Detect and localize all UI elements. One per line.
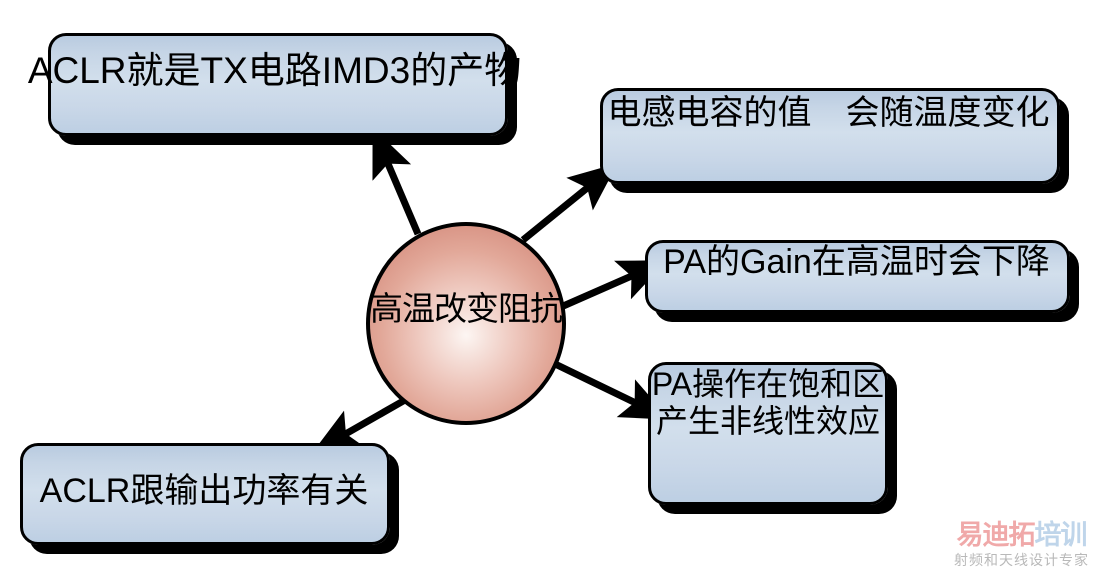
- arrow-center-to-lc-temp: [523, 180, 597, 240]
- watermark-brand-red: 易迪拓: [957, 520, 1035, 550]
- node-lc-temp[interactable]: 电感电容的值 会随温度变化: [600, 88, 1060, 184]
- arrow-center-to-aclr-imd3: [383, 152, 418, 234]
- node-pa-saturation[interactable]: PA操作在饱和区 产生非线性效应: [648, 362, 888, 505]
- arrow-center-to-aclr-power: [335, 400, 405, 440]
- watermark-logo: 易迪拓培训 射频和天线设计专家: [954, 522, 1089, 567]
- node-pa-gain[interactable]: PA的Gain在高温时会下降: [645, 240, 1070, 313]
- node-aclr-imd3[interactable]: ACLR就是TX电路IMD3的产物: [48, 33, 508, 136]
- node-center-topic[interactable]: 高温改变阻抗: [366, 222, 566, 425]
- node-pa-gain-label: PA的Gain在高温时会下降: [663, 244, 1050, 281]
- node-pa-saturation-label-line2: 产生非线性效应: [656, 404, 880, 439]
- arrow-center-to-pa-gain: [561, 271, 643, 307]
- node-lc-temp-label: 电感电容的值 会随温度变化: [608, 95, 1050, 132]
- node-pa-saturation-label-line1: PA操作在饱和区: [652, 367, 884, 402]
- node-aclr-imd3-label: ACLR就是TX电路IMD3的产物: [28, 51, 521, 91]
- arrow-center-to-pa-saturation: [551, 362, 646, 408]
- node-aclr-power[interactable]: ACLR跟输出功率有关: [20, 443, 390, 545]
- watermark-brand: 易迪拓培训: [954, 522, 1089, 549]
- watermark-brand-blue: 培训: [1035, 520, 1087, 550]
- watermark-tagline: 射频和天线设计专家: [954, 553, 1089, 567]
- node-aclr-power-label: ACLR跟输出功率有关: [40, 473, 369, 510]
- diagram-canvas: ACLR就是TX电路IMD3的产物 电感电容的值 会随温度变化 PA的Gain在…: [0, 0, 1097, 573]
- node-center-topic-label: 高温改变阻抗: [370, 282, 562, 330]
